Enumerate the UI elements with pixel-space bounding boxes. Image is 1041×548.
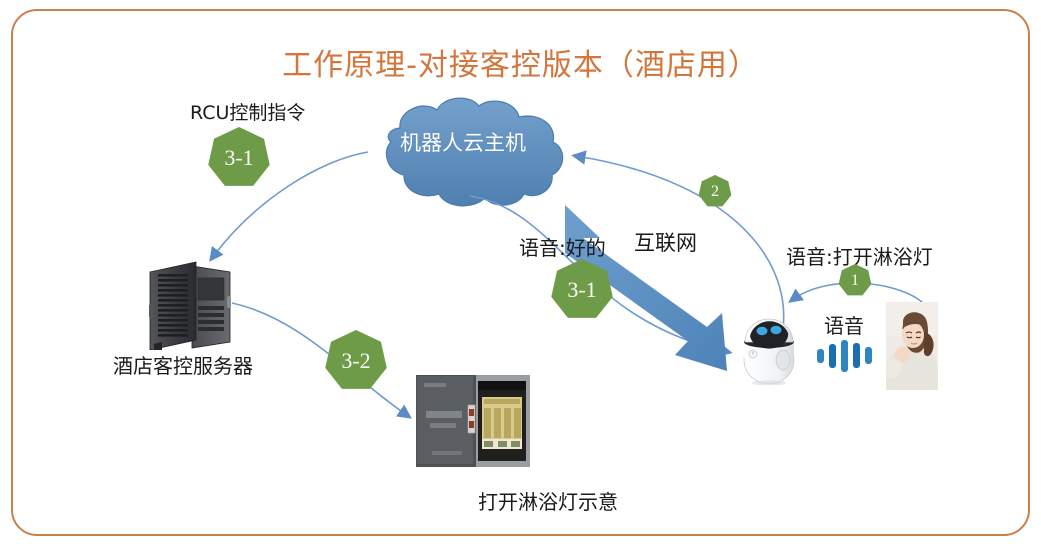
voice-waveform-group: 语音 <box>808 310 880 372</box>
rcu-command-label: RCU控制指令 <box>190 98 305 125</box>
voice-label: 语音 <box>808 310 880 339</box>
voice-bar <box>841 340 848 372</box>
internet-label: 互联网 <box>634 227 697 257</box>
rcu-control-box-image <box>416 375 530 467</box>
hotel-server-icon <box>140 258 236 350</box>
cloud-label: 机器人云主机 <box>392 130 534 156</box>
slide-canvas: 工作原理-对接客控版本（酒店用） <box>0 0 1041 548</box>
voice-bars <box>808 339 880 372</box>
voice-reply-label: 语音:好的 <box>519 232 606 261</box>
service-robot-icon <box>736 300 802 385</box>
voice-bar <box>817 349 824 363</box>
rcu-caption: 打开淋浴灯示意 <box>478 486 618 515</box>
hotel-guest-photo <box>886 302 938 390</box>
server-label: 酒店客控服务器 <box>113 350 253 379</box>
voice-request-label: 语音:打开淋浴灯 <box>786 241 933 270</box>
voice-bar <box>829 344 836 368</box>
voice-bar <box>853 343 860 368</box>
voice-bar <box>865 347 872 364</box>
